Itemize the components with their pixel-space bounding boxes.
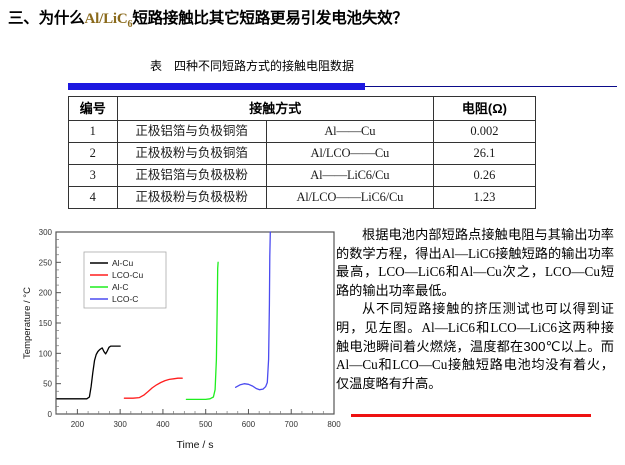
p2-sym1: Al—LiC6: [422, 320, 475, 335]
cell-desc: 正极铝箔与负极极粉: [117, 165, 266, 187]
chart-legend: Al-CuLCO-CuAl-CLCO-C: [84, 252, 166, 308]
cell-no: 1: [69, 121, 118, 143]
explanation-text: 根据电池内部短路点接触电阻与其输出功率的数学方程，得出Al—LiC6接触短路的输…: [336, 226, 614, 393]
x-axis-title: Time / s: [177, 439, 214, 451]
header-method: 接触方式: [117, 97, 433, 121]
y-axis-title: Temperature / °C: [22, 287, 33, 359]
svg-text:0: 0: [48, 410, 53, 419]
p1-sym4: LCO—Cu: [545, 264, 600, 279]
series-lco-c: [236, 232, 271, 390]
series-lco-cu: [124, 378, 182, 398]
table-row: 3 正极铝箔与负极极粉 Al——LiC6/Cu 0.26: [69, 165, 536, 187]
table-caption: 表 四种不同短路方式的接触电阻数据: [150, 57, 510, 74]
legend-label-al-cu: Al-Cu: [112, 258, 134, 268]
cell-symbol: Al——Cu: [266, 121, 433, 143]
svg-text:300: 300: [113, 420, 127, 429]
series-al-c: [186, 262, 218, 399]
cell-resistance: 0.26: [433, 165, 535, 187]
header-resistance: 电阻(Ω): [433, 97, 535, 121]
cell-resistance: 0.002: [433, 121, 535, 143]
legend-label-lco-cu: LCO-Cu: [112, 270, 143, 280]
p2-sym3: Al—Cu: [336, 357, 378, 372]
cell-symbol: Al——LiC6/Cu: [266, 165, 433, 187]
cell-resistance: 1.23: [433, 187, 535, 209]
svg-text:250: 250: [39, 258, 53, 267]
cell-desc: 正极铝箔与负极铜箔: [117, 121, 266, 143]
cell-no: 4: [69, 187, 118, 209]
title-formula: Al/LiC6: [85, 11, 133, 27]
p2-d: 和: [378, 357, 393, 372]
page-title: 三、为什么Al/LiC6短路接触比其它短路更易引发电池失效？: [8, 6, 618, 30]
legend-label-al-c: Al-C: [112, 282, 129, 292]
svg-text:600: 600: [242, 420, 256, 429]
svg-text:200: 200: [39, 289, 53, 298]
p1-d: 次之，: [502, 264, 545, 279]
p1-sym3: Al—Cu: [460, 264, 502, 279]
table-row: 4 正极极粉与负极极粉 Al/LCO——LiC6/Cu 1.23: [69, 187, 536, 209]
paragraph-1: 根据电池内部短路点接触电阻与其输出功率的数学方程，得出Al—LiC6接触短路的输…: [336, 226, 614, 300]
legend-label-lco-c: LCO-C: [112, 294, 138, 304]
p2-b: 和: [475, 320, 490, 335]
paragraph-2: 从不同短路接触的挤压测试也可以得到证明，见左图。Al—LiC6和LCO—LiC6…: [336, 300, 614, 393]
cell-resistance: 26.1: [433, 143, 535, 165]
svg-text:700: 700: [285, 420, 299, 429]
chart-canvas: 200300400500600700800050100150200250300 …: [16, 222, 346, 460]
title-formula-text: Al/LiC: [85, 11, 128, 27]
header-no: 编号: [69, 97, 118, 121]
cell-desc: 正极极粉与负极铜箔: [117, 143, 266, 165]
cell-no: 3: [69, 165, 118, 187]
cell-symbol: Al/LCO——Cu: [266, 143, 433, 165]
blue-accent-bar: [68, 83, 365, 90]
cell-desc: 正极极粉与负极极粉: [117, 187, 266, 209]
table-header-row: 编号 接触方式 电阻(Ω): [69, 97, 536, 121]
svg-text:100: 100: [39, 349, 53, 358]
svg-text:400: 400: [156, 420, 170, 429]
p2-sym4: LCO—Cu: [392, 357, 447, 372]
svg-text:300: 300: [39, 228, 53, 237]
svg-text:500: 500: [199, 420, 213, 429]
svg-text:150: 150: [39, 319, 53, 328]
svg-text:50: 50: [43, 380, 52, 389]
cell-symbol: Al/LCO——LiC6/Cu: [266, 187, 433, 209]
red-underline: [351, 414, 591, 417]
table-row: 1 正极铝箔与负极铜箔 Al——Cu 0.002: [69, 121, 536, 143]
title-prefix: 三、为什么: [8, 10, 85, 27]
p1-sym2: LCO—LiC6: [378, 264, 445, 279]
svg-text:800: 800: [327, 420, 341, 429]
title-suffix: 短路接触比其它短路更易引发电池失效？: [132, 10, 407, 27]
contact-resistance-table: 编号 接触方式 电阻(Ω) 1 正极铝箔与负极铜箔 Al——Cu 0.002 2…: [68, 96, 536, 209]
p2-sym2: LCO—LiC6: [490, 320, 557, 335]
p1-c: 和: [445, 264, 460, 279]
table-row: 2 正极极粉与负极铜箔 Al/LCO——Cu 26.1: [69, 143, 536, 165]
p1-sym1: Al—LiC6: [442, 246, 495, 261]
temperature-time-chart: 200300400500600700800050100150200250300 …: [16, 222, 346, 460]
cell-no: 2: [69, 143, 118, 165]
series-al-cu: [57, 346, 120, 399]
svg-text:200: 200: [71, 420, 85, 429]
